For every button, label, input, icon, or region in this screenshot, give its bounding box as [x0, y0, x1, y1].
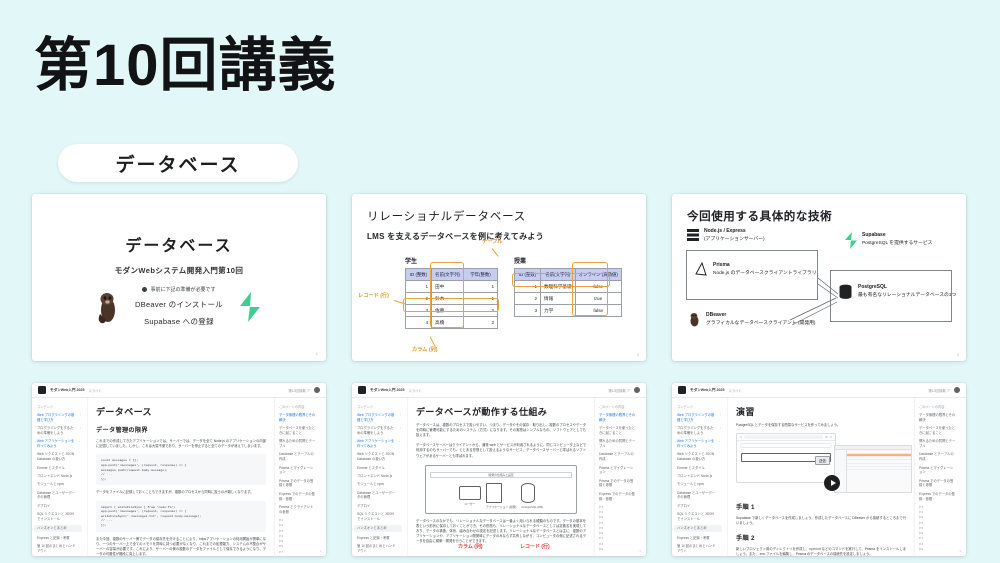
code-block-2: import { writeFileSync } from 'node:fs';…: [96, 501, 266, 532]
table-row: 3 力学 false: [515, 305, 622, 317]
sidebar-item[interactable]: プログラミングをするための準備をしよう›: [357, 426, 402, 436]
app-server-icon: [486, 483, 502, 503]
sidebar-item[interactable]: Web リクエストと JSON Database の扱い方: [677, 452, 722, 462]
sidebar-item[interactable]: 第 10 回のまとめとハンドアウト: [37, 544, 82, 554]
site-logo-icon: [38, 386, 46, 394]
slide3-title: 今回使用する具体的な技術: [687, 208, 953, 224]
toc-item[interactable]: Database とテーブルの作成: [919, 452, 962, 462]
doc-brand: モダンWeb入門 2025: [690, 388, 724, 393]
sidebar-item[interactable]: デプロイ: [677, 504, 722, 509]
doc-page-database: モダンWeb入門 2025 スライド 第10回講義 ア コンテンツ Web プロ…: [32, 383, 326, 556]
toc-heading: このページの内容: [279, 404, 322, 409]
cell: 田中: [432, 281, 464, 293]
sidebar-item[interactable]: Database とユーザーデータの管理: [357, 491, 402, 501]
doc-nav-slides[interactable]: スライド: [88, 388, 102, 393]
db-cylinder-icon: [521, 483, 535, 503]
toc-item[interactable]: Prisma とマイグレーション: [279, 466, 322, 476]
toc-heading: このページの内容: [919, 404, 962, 409]
toc-item[interactable]: 慣れるための質問とテーブル: [919, 439, 962, 449]
sidebar-item[interactable]: 第 10 回のまとめとハンドアウト: [677, 544, 722, 554]
toc-page-list: P.1P.2P.3P.4P.5P.6P.7P.8P.9P.10: [279, 518, 322, 556]
tech-postgres-desc: 最も有名なリレーショナルデータベースの1つ: [858, 293, 956, 298]
dbeaver-screenshot-mock: [834, 445, 912, 493]
sidebar-item[interactable]: デプロイ: [37, 504, 82, 509]
sidebar-item[interactable]: SQL リクエストと JSON でインストール: [357, 512, 402, 522]
slide1-notes: 事前に下記の準備が必要です DBeaver のインストール Supabase へ…: [135, 286, 223, 327]
annotation-column: カラム (列): [412, 346, 438, 353]
toc-item[interactable]: データ管理の限界とその解決: [279, 413, 322, 423]
step-text: 新しいプロジェクト用のディレクトリを作成し、npm init などのコマンドを実…: [736, 547, 906, 556]
sidebar-item[interactable]: Database とユーザーデータの管理: [677, 491, 722, 501]
sidebar-item-selected[interactable]: ハンズオンとまとめ: [354, 525, 402, 532]
sidebar-item[interactable]: モジュールと npm: [677, 482, 722, 487]
doc-page-exercise: モダンWeb入門 2025 スライド 第10回講義 ア コンテンツ Web プロ…: [672, 383, 966, 556]
browser-url-bar[interactable]: [740, 443, 832, 448]
chevron-right-icon: ›: [400, 426, 401, 431]
class-table-caption: 授業: [514, 256, 622, 265]
cell: 3: [406, 305, 432, 317]
class-col-online: オンライン (真偽値): [575, 269, 621, 281]
browser-tabbar: [737, 434, 835, 441]
toc-item[interactable]: データベースを使ったときに起こること: [599, 426, 642, 436]
slide2-page-number: 2: [637, 352, 639, 357]
doc-sidebar-left: コンテンツ Web プログラミングの基礎と学び方› プログラミングをするための準…: [672, 398, 728, 556]
tech-postgres-label: PostgreSQL 最も有名なリレーショナルデータベースの1つ: [858, 284, 956, 299]
site-logo-icon: [678, 386, 686, 394]
sidebar-item[interactable]: Web プログラミングの基礎と学び方›: [37, 413, 82, 423]
supabase-bolt-icon: [844, 232, 858, 249]
table-row: 2 情報 true: [515, 293, 622, 305]
table-header-row: ID (整数) 名前(文字列) 学年(整数): [406, 269, 498, 281]
exercise-intro: PostgreSQL とデータを保存する簡易なサービスを作ってみましょう。: [736, 423, 906, 428]
sidebar-item[interactable]: 第 10 回のまとめとハンドアウト: [357, 544, 402, 554]
slide-thumbnail-doc-exercise[interactable]: モダンWeb入門 2025 スライド 第10回講義 ア コンテンツ Web プロ…: [672, 383, 966, 556]
doc-sidebar-right: このページの内容 データ管理の限界とその解決 データベースを使ったときに起こるこ…: [914, 398, 966, 556]
sidebar-item[interactable]: Emmet とスタイル: [37, 466, 82, 471]
tech-prisma-label: Prisma Node.js のデータベースクライアントライブラリ: [713, 262, 817, 277]
server-stack-icon: [686, 228, 700, 242]
window-control-icon: [825, 436, 827, 438]
cell: 1: [464, 293, 498, 305]
slide-grid: データベース モダンWebシステム開発入門第10回 事前に下記の準備が必要です: [32, 194, 970, 556]
toc-item[interactable]: Prisma とマイグレーション: [599, 466, 642, 476]
annotation-table: テーブル: [482, 238, 502, 245]
dbeaver-beaver-icon: [688, 312, 701, 327]
sidebar-item[interactable]: Web アプリケーションを作ってみよう⌄: [357, 439, 402, 449]
doc-paragraph: これまでの作成してきたアプリケーションでは、サーバーでは、データを全て Node…: [96, 439, 266, 449]
toc-item[interactable]: 慣れるための質問とテーブル: [279, 439, 322, 449]
cell: 数理科学基礎: [541, 281, 576, 293]
chevron-right-icon: ›: [720, 426, 721, 431]
cell: 鈴木: [432, 293, 464, 305]
toc-item[interactable]: Prisma でのデータの登録と参照: [279, 479, 322, 489]
laptop-icon: [459, 486, 481, 500]
code-block-1: const messages = []; app.post('/messages…: [96, 454, 266, 485]
chevron-right-icon: ›: [720, 413, 721, 418]
doc-top-right-text: 第10回講義 ア: [928, 388, 950, 393]
chevron-right-icon: ›: [80, 413, 81, 418]
student-col-id: ID (整数): [406, 269, 432, 281]
browser-tab: [744, 435, 823, 439]
sidebar-item[interactable]: Emmet とスタイル: [357, 466, 402, 471]
doc-paragraph: また今回、複数のサーバー側でデータの保存先を分けることにより、httpsアプリケ…: [96, 537, 266, 556]
chevron-down-icon: ⌄: [398, 439, 401, 444]
sidebar-item-selected[interactable]: ハンズオンとまとめ: [674, 525, 722, 532]
slide-thumbnail-doc-database[interactable]: モダンWeb入門 2025 スライド 第10回講義 ア コンテンツ Web プロ…: [32, 383, 326, 556]
sidebar-item[interactable]: Web アプリケーションを作ってみよう⌄: [37, 439, 82, 449]
avatar[interactable]: [634, 387, 640, 393]
cell: 2: [406, 293, 432, 305]
slide1-page-number: 1: [316, 351, 318, 356]
doc-sidebar-left: コンテンツ Web プログラミングの基礎と学び方› プログラミングをするための準…: [352, 398, 408, 556]
sidebar-item[interactable]: プログラミングをするための準備をしよう›: [677, 426, 722, 436]
tech-supabase-desc: PostgreSQL を提供するサービス: [862, 241, 932, 246]
doc-heading: 演習: [736, 405, 906, 418]
cell: 情報: [541, 293, 576, 305]
toc-item[interactable]: Express でのデータの登録・参照: [599, 492, 642, 502]
tab-dot-icon: [740, 436, 742, 438]
doc-body: コンテンツ Web プログラミングの基礎と学び方› プログラミングをするための準…: [672, 398, 966, 556]
step-title: 手順 1: [736, 502, 906, 511]
sidebar-item[interactable]: Web リクエストと JSON Database の扱い方: [37, 452, 82, 462]
diagram-app: アプリケーション (開発): [486, 483, 517, 509]
cell: 力学: [541, 305, 576, 317]
sidebar-item[interactable]: プログラミングをするための準備をしよう›: [37, 426, 82, 436]
slide1-note-heading: 事前に下記の準備が必要です: [135, 286, 223, 293]
doc-page-mechanism: モダンWeb入門 2025 スライド 第10回講義 ア コンテンツ Web プロ…: [352, 383, 646, 556]
doc-top-right-text: 第10回講義 ア: [608, 388, 630, 393]
slide1-body: 事前に下記の準備が必要です DBeaver のインストール Supabase へ…: [32, 286, 326, 327]
sidebar-item[interactable]: Emmet とスタイル: [677, 466, 722, 471]
diagram-row: ユーザー アプリケーション (開発) PostgreSQL (DB): [430, 483, 572, 509]
toc-item[interactable]: Prisma でのデータの登録と参照: [919, 479, 962, 489]
browser-mock-window: 送信: [736, 433, 836, 483]
sidebar-item[interactable]: フロントエンド Node.js: [357, 474, 402, 479]
doc-sidebar-left: コンテンツ Web プログラミングの基礎と学び方› プログラミングをするための準…: [32, 398, 88, 556]
slide-thumbnail-tech[interactable]: 今回使用する具体的な技術 Node.js / Express (アプリケーション…: [672, 194, 966, 361]
slide2-title: リレーショナルデータベース: [367, 208, 633, 224]
diagram-label-app: アプリケーション (開発): [486, 505, 517, 509]
tech-node-desc: (アプリケーションサーバー): [704, 237, 765, 242]
tech-node-name: Node.js / Express: [704, 228, 765, 236]
play-button[interactable]: [824, 475, 840, 491]
beaver-mascot-icon: [95, 290, 121, 324]
step-text: Supabase で新しくデータベースを作成しましょう。作成したデータベースに …: [736, 516, 906, 526]
tech-prisma-desc: Node.js のデータベースクライアントライブラリ: [713, 271, 817, 276]
topic-badge: データベース: [58, 144, 298, 182]
slide1-title: データベース: [125, 232, 232, 256]
doc-topbar: モダンWeb入門 2025 スライド 第10回講義 ア: [352, 383, 646, 398]
chevron-down-icon: ⌄: [78, 439, 81, 444]
doc-paragraph: データをファイルに記録しておくこともできますが、複数のプロセスから同時に扱うのが…: [96, 490, 266, 495]
prisma-logo-icon: [694, 262, 708, 278]
video-embed[interactable]: 送信: [736, 433, 906, 495]
database-cylinder-icon: [838, 284, 853, 300]
tech-supabase-name: Supabase: [862, 232, 932, 240]
toc-heading: このページの内容: [599, 404, 642, 409]
toc-item[interactable]: データベースを使ったときに起こること: [279, 426, 322, 436]
presentation-overview-page: 第10回講義 データベース データベース モダンWebシステム開発入門第10回: [0, 0, 1000, 563]
doc-main-content: 演習 PostgreSQL とデータを保存する簡易なサービスを作ってみましょう。: [728, 398, 914, 556]
step-title: 手順 2: [736, 533, 906, 542]
slide1-subtitle: モダンWebシステム開発入門第10回: [115, 265, 244, 276]
toc-item[interactable]: Prisma とマイグレーション: [919, 466, 962, 476]
doc-page-number: 2: [639, 549, 641, 553]
tech-postgres-name: PostgreSQL: [858, 284, 956, 292]
doc-main-content: データベースが動作する仕組み データベースは、複数のプロセスで扱いやすい、つまり…: [408, 398, 594, 556]
slide-thumbnail-title[interactable]: データベース モダンWebシステム開発入門第10回 事前に下記の準備が必要です: [32, 194, 326, 361]
code-line: });: [101, 523, 261, 528]
sidebar-heading: コンテンツ: [677, 404, 722, 409]
avatar[interactable]: [954, 387, 960, 393]
diagram-user: ユーザー: [459, 486, 481, 506]
sidebar-heading: コンテンツ: [37, 404, 82, 409]
toc-item[interactable]: Prisma とクライアントの参照: [279, 505, 322, 515]
sidebar-item[interactable]: Express と記録・考察: [37, 536, 82, 541]
diagram-caption: 開発の仕組みと設定: [430, 472, 572, 478]
annotation-record: レコード (行): [358, 292, 389, 299]
cell: false: [575, 305, 621, 317]
window-control-icon: [830, 436, 832, 438]
toc-item[interactable]: Database とテーブルの作成: [279, 452, 322, 462]
doc-top-right-text: 第10回講義 ア: [288, 388, 310, 393]
doc-paragraph: データベースは、複数のプロセスで扱いやすい、つまり、データやその保存・取り出し、…: [416, 423, 586, 438]
sidebar-item[interactable]: Web アプリケーションを作ってみよう⌄: [677, 439, 722, 449]
cell: 3: [515, 305, 541, 317]
tech-supabase-label: Supabase PostgreSQL を提供するサービス: [862, 232, 932, 247]
doc-topbar: モダンWeb入門 2025 スライド 第10回講義 ア: [672, 383, 966, 398]
tech-dbeaver-desc: グラフィカルなデータベースクライアント (開発用): [706, 321, 816, 326]
slide-thumbnail-doc-mechanism[interactable]: モダンWeb入門 2025 スライド 第10回講義 ア コンテンツ Web プロ…: [352, 383, 646, 556]
doc-heading: データベースが動作する仕組み: [416, 405, 586, 418]
sidebar-item[interactable]: Web プログラミングの基礎と学び方›: [677, 413, 722, 423]
class-table: ID (整数) 名前(文字列) オンライン (真偽値) 1 数理科学基礎 fal…: [514, 268, 622, 317]
table-row: 1 数理科学基礎 false: [515, 281, 622, 293]
cell: 2: [515, 293, 541, 305]
sidebar-item[interactable]: SQL リクエストと JSON でインストール: [677, 512, 722, 522]
cell: 4: [406, 317, 432, 329]
doc-paragraph: データベースサーバーはクライアントから、通常 web とサービスが利用されるよう…: [416, 443, 586, 458]
toc-item[interactable]: Express でのデータの登録・参照: [919, 492, 962, 502]
class-col-id: ID (整数): [515, 269, 541, 281]
tech-dbeaver-name: DBeaver: [706, 312, 816, 320]
cell: true: [575, 293, 621, 305]
toc-item[interactable]: データ管理の限界とその解決: [599, 413, 642, 423]
doc-page-number: 1: [319, 549, 321, 553]
doc-topbar: モダンWeb入門 2025 スライド 第10回講義 ア: [32, 383, 326, 398]
bullet-dot-icon: [142, 287, 147, 292]
student-table-block: 学生 ID (整数) 名前(文字列) 学年(整数) 1 田中 1: [405, 256, 498, 329]
student-table: ID (整数) 名前(文字列) 学年(整数) 1 田中 1 2 鈴木 1: [405, 268, 498, 329]
sidebar-item-selected[interactable]: ハンズオンとまとめ: [34, 525, 82, 532]
sidebar-item[interactable]: Express と記録・考察: [357, 536, 402, 541]
slide1-note-line-1: DBeaver のインストール: [135, 299, 223, 310]
student-col-grade: 学年(整数): [464, 269, 498, 281]
doc-brand: モダンWeb入門 2025: [50, 388, 84, 393]
doc-nav-slides[interactable]: スライド: [728, 388, 742, 393]
cell: 高橋: [432, 317, 464, 329]
diagram-db: PostgreSQL (DB): [521, 483, 543, 509]
toc-item[interactable]: Database とテーブルの作成: [599, 452, 642, 462]
doc-heading: データベース: [96, 405, 266, 418]
ss-row: [847, 467, 911, 470]
doc-sidebar-right: このページの内容 データ管理の限界とその解決 データベースを使ったときに起こるこ…: [274, 398, 326, 556]
annotation-column-leader: [430, 336, 436, 346]
cell: 1: [515, 281, 541, 293]
table-header-row: ID (整数) 名前(文字列) オンライン (真偽値): [515, 269, 622, 281]
cell: 佐藤: [432, 305, 464, 317]
sidebar-item[interactable]: Express と記録・考察: [677, 536, 722, 541]
chevron-right-icon: ›: [400, 413, 401, 418]
slide-thumbnail-relational[interactable]: リレーショナルデータベース LMS を支えるデータベースを例に考えてみよう 学生…: [352, 194, 646, 361]
sidebar-item[interactable]: デプロイ: [357, 504, 402, 509]
class-col-name: 名前(文字列): [541, 269, 576, 281]
chevron-right-icon: ›: [80, 426, 81, 431]
sidebar-heading: コンテンツ: [357, 404, 402, 409]
student-col-name: 名前(文字列): [432, 269, 464, 281]
toc-item[interactable]: データベースを使ったときに起こること: [919, 426, 962, 436]
cell: 1: [406, 281, 432, 293]
cell: 2: [464, 317, 498, 329]
annotation-column-red: カラム (列): [458, 543, 483, 550]
sidebar-item[interactable]: モジュールと npm: [357, 482, 402, 487]
sidebar-item[interactable]: Web リクエストと JSON Database の扱い方: [357, 452, 402, 462]
send-button-mock[interactable]: 送信: [815, 456, 830, 465]
architecture-diagram: 開発の仕組みと設定 ユーザー アプリケーション (開発): [425, 465, 577, 514]
slide3-page-number: 3: [957, 352, 959, 357]
site-logo-icon: [358, 386, 366, 394]
page-title: 第10回講義: [34, 36, 337, 97]
cell: 1: [464, 281, 498, 293]
doc-page-number: 3: [959, 549, 961, 553]
doc-nav-slides[interactable]: スライド: [408, 388, 422, 393]
doc-body: コンテンツ Web プログラミングの基礎と学び方› プログラミングをするための準…: [352, 398, 646, 556]
toc-item[interactable]: 慣れるための質問とテーブル: [599, 439, 642, 449]
toc-page-list: P.1P.2P.3P.4P.5P.6P.7P.8P.9: [919, 505, 962, 552]
toc-item[interactable]: データ管理の限界とその解決: [919, 413, 962, 423]
class-table-block: 授業 ID (整数) 名前(文字列) オンライン (真偽値) 1 数理科学基礎 …: [514, 256, 622, 329]
sidebar-item[interactable]: Web プログラミングの基礎と学び方›: [357, 413, 402, 423]
doc-sidebar-right: このページの内容 データ管理の限界とその解決 データベースを使ったときに起こるこ…: [594, 398, 646, 556]
code-line: });: [101, 477, 261, 482]
toc-item[interactable]: Express でのデータの登録・参照: [279, 492, 322, 502]
doc-subheading: データ管理の限界: [96, 425, 266, 434]
cell: 2: [464, 305, 498, 317]
doc-body: コンテンツ Web プログラミングの基礎と学び方› プログラミングをするための準…: [32, 398, 326, 556]
diagram-label-user: ユーザー: [459, 502, 481, 506]
sidebar-item[interactable]: フロントエンド Node.js: [37, 474, 82, 479]
table-row: 3 佐藤 2: [406, 305, 498, 317]
avatar[interactable]: [314, 387, 320, 393]
table-row: 1 田中 1: [406, 281, 498, 293]
sidebar-item[interactable]: SQL リクエストと JSON でインストール: [37, 512, 82, 522]
table-row: 4 高橋 2: [406, 317, 498, 329]
tech-node-label: Node.js / Express (アプリケーションサーバー): [704, 228, 765, 243]
chevron-down-icon: ⌄: [718, 439, 721, 444]
annotation-record-red: レコード (行): [520, 543, 550, 550]
slide1-note-line-2: Supabase への登録: [135, 316, 223, 327]
slide1-note-head-text: 事前に下記の準備が必要です: [150, 286, 215, 293]
doc-paragraph: データベースのなかでも、リレーショナルなデータベースは一番よく用いられる種類のも…: [416, 519, 586, 545]
doc-brand: モダンWeb入門 2025: [370, 388, 404, 393]
sidebar-item[interactable]: モジュールと npm: [37, 482, 82, 487]
sidebar-item[interactable]: Database とユーザーデータの管理: [37, 491, 82, 501]
toc-page-list: P.1P.2P.3P.4P.5P.6P.7P.8P.9: [599, 505, 642, 552]
cell: false: [575, 281, 621, 293]
diagram-label-db: PostgreSQL (DB): [521, 505, 543, 509]
student-table-caption: 学生: [405, 256, 498, 265]
slide2-tables: 学生 ID (整数) 名前(文字列) 学年(整数) 1 田中 1: [367, 256, 633, 329]
doc-main-content: データベース データ管理の限界 これまでの作成してきたアプリケーションでは、サー…: [88, 398, 274, 556]
supabase-logo-icon: [237, 292, 263, 322]
tech-prisma-name: Prisma: [713, 262, 817, 270]
tech-dbeaver-label: DBeaver グラフィカルなデータベースクライアント (開発用): [706, 312, 816, 327]
sidebar-item[interactable]: フロントエンド Node.js: [677, 474, 722, 479]
toc-item[interactable]: Prisma でのデータの登録と参照: [599, 479, 642, 489]
table-row: 2 鈴木 1: [406, 293, 498, 305]
